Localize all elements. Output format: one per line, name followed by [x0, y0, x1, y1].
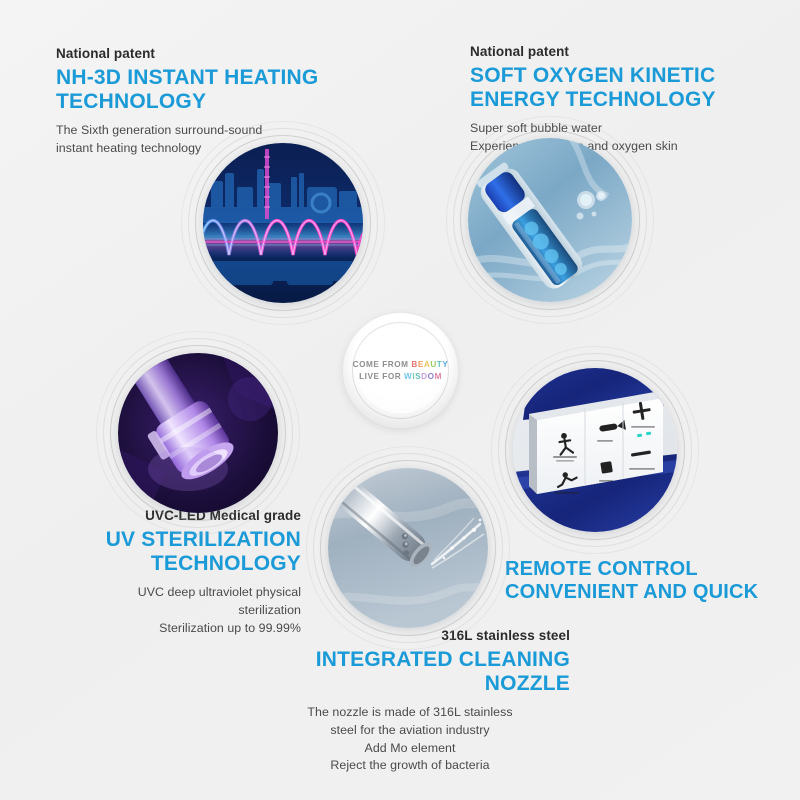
- nozzle-headline: INTEGRATED CLEANING NOZZLE: [250, 648, 570, 695]
- bubble-water-nozzle-photo: [468, 138, 632, 302]
- heating-headline: NH-3D INSTANT HEATING TECHNOLOGY: [56, 66, 356, 113]
- remote-headline-line1: REMOTE CONTROL: [505, 558, 698, 580]
- heating-headline-line1: NH-3D INSTANT HEATING: [56, 66, 318, 89]
- heating-headline-line2: TECHNOLOGY: [56, 90, 206, 113]
- feature-text-remote: REMOTE CONTROL CONVENIENT AND QUICK: [505, 558, 790, 603]
- remote-control-panel-photo: [513, 368, 677, 532]
- uv-desc-line1: UVC deep ultraviolet physical: [36, 584, 301, 602]
- feature-image-uv: [118, 353, 278, 513]
- oxygen-headline-line2: ENERGY TECHNOLOGY: [470, 88, 716, 111]
- nozzle-desc-line2: steel for the aviation industry: [250, 722, 570, 740]
- instant-heating-coil-photo: [203, 143, 363, 303]
- remote-headline-line2: CONVENIENT AND QUICK: [505, 581, 758, 603]
- uv-headline: UV STERILIZATION TECHNOLOGY: [36, 528, 301, 575]
- feature-image-heating: [203, 143, 363, 303]
- feature-text-nozzle: 316L stainless steel INTEGRATED CLEANING…: [250, 628, 570, 775]
- oxygen-headline-line1: SOFT OXYGEN KINETIC: [470, 64, 715, 87]
- oxygen-kicker: National patent: [470, 44, 766, 61]
- feature-image-nozzle: [328, 468, 488, 628]
- uv-headline-line2: TECHNOLOGY: [151, 552, 301, 575]
- heating-kicker: National patent: [56, 46, 356, 63]
- nozzle-desc-line3: Add Mo element: [250, 740, 570, 758]
- nozzle-desc-line4: Reject the growth of bacteria: [250, 757, 570, 775]
- logo-tagline-line1: COME FROM BEAUTY: [353, 359, 449, 371]
- nozzle-description: The nozzle is made of 316L stainless ste…: [250, 704, 570, 774]
- logo-tagline-line2: LIVE FOR WISDOM: [359, 371, 442, 383]
- uv-desc-line2: sterilization: [36, 602, 301, 620]
- nozzle-desc-line1: The nozzle is made of 316L stainless: [250, 704, 570, 722]
- feature-image-remote: [513, 368, 677, 532]
- uv-sterilization-nozzle-photo: [118, 353, 278, 513]
- remote-headline: REMOTE CONTROL CONVENIENT AND QUICK: [505, 558, 790, 603]
- nozzle-headline-line2: NOZZLE: [485, 672, 570, 695]
- stainless-steel-nozzle-photo: [328, 468, 488, 628]
- logo-inner-disc: COME FROM BEAUTY LIVE FOR WISDOM: [359, 329, 442, 412]
- logo-line1-plain: COME FROM: [353, 360, 412, 369]
- infographic-canvas: National patent NH-3D INSTANT HEATING TE…: [0, 0, 800, 800]
- nozzle-headline-line1: INTEGRATED CLEANING: [316, 648, 570, 671]
- logo-line2-plain: LIVE FOR: [359, 372, 404, 381]
- center-brand-logo: COME FROM BEAUTY LIVE FOR WISDOM: [343, 313, 458, 428]
- feature-image-oxygen: [468, 138, 632, 302]
- oxygen-headline: SOFT OXYGEN KINETIC ENERGY TECHNOLOGY: [470, 64, 766, 111]
